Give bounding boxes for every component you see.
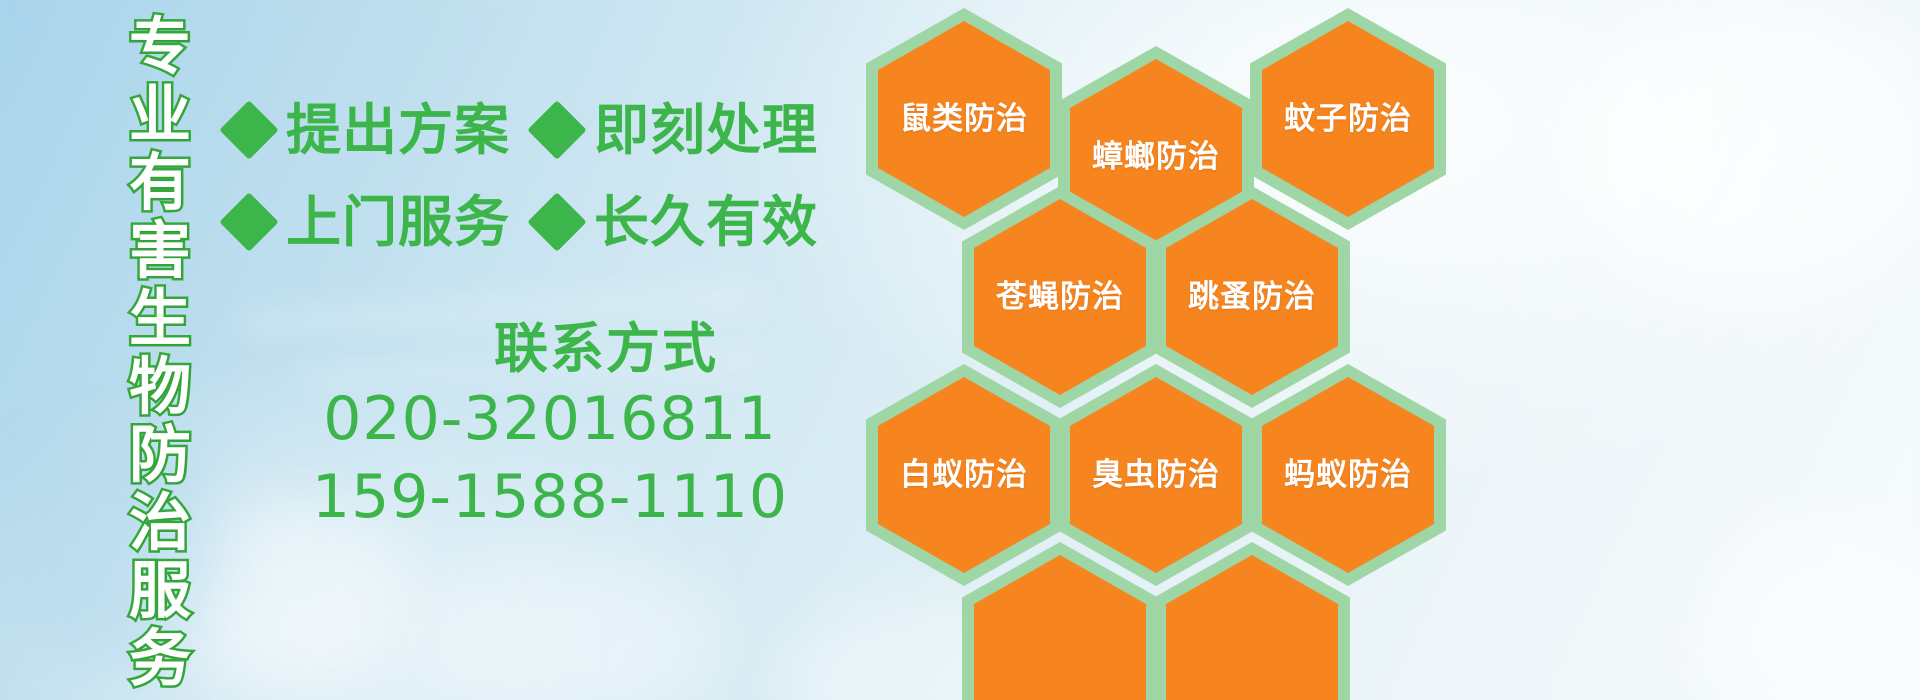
hex-inner: 臭虫防治 bbox=[1070, 377, 1242, 573]
service-hex-bedbug[interactable]: 臭虫防治 bbox=[1058, 364, 1254, 586]
service-label: 跳蚤防治 bbox=[1188, 280, 1316, 314]
feature-item: 即刻处理 bbox=[536, 100, 818, 160]
vertical-headline-char: 业 bbox=[129, 82, 191, 150]
contact-block: 联系方式 020-32016811 159-1588-1110 bbox=[300, 318, 800, 536]
diamond-icon bbox=[219, 100, 278, 159]
service-hex-termite[interactable]: 白蚁防治 bbox=[866, 364, 1062, 586]
background-blob bbox=[1700, 520, 1920, 700]
hex-inner: 跳蚤防治 bbox=[1166, 199, 1338, 395]
vertical-headline-char: 务 bbox=[129, 626, 191, 694]
feature-list: 提出方案 即刻处理 上门服务 长久有效 bbox=[228, 84, 868, 268]
hex-inner bbox=[974, 555, 1146, 700]
background-blob bbox=[1560, 0, 1920, 300]
vertical-headline-char: 害 bbox=[129, 218, 191, 286]
feature-label: 提出方案 bbox=[286, 100, 510, 160]
vertical-headline-char: 有 bbox=[129, 150, 191, 218]
diamond-icon bbox=[527, 100, 586, 159]
feature-item: 上门服务 bbox=[228, 192, 510, 252]
vertical-headline-char: 治 bbox=[129, 490, 191, 558]
diamond-icon bbox=[527, 192, 586, 251]
vertical-headline-char: 生 bbox=[129, 286, 191, 354]
hex-inner: 鼠类防治 bbox=[878, 21, 1050, 217]
feature-label: 上门服务 bbox=[286, 192, 510, 252]
service-label: 臭虫防治 bbox=[1092, 458, 1220, 492]
service-label: 蟑螂防治 bbox=[1092, 140, 1220, 174]
service-label: 鼠类防治 bbox=[900, 102, 1028, 136]
hex-inner: 白蚁防治 bbox=[878, 377, 1050, 573]
diamond-icon bbox=[219, 192, 278, 251]
hex-inner: 蚊子防治 bbox=[1262, 21, 1434, 217]
vertical-headline-char: 服 bbox=[129, 558, 191, 626]
contact-title: 联系方式 bbox=[412, 318, 800, 380]
hex-inner: 苍蝇防治 bbox=[974, 199, 1146, 395]
contact-phone-landline[interactable]: 020-32016811 bbox=[300, 380, 800, 458]
service-honeycomb: 鼠类防治 蟑螂防治 蚊子防治 苍蝇防治 跳蚤防治 白蚁防治 臭虫防治 蚂蚁防治 bbox=[858, 0, 1458, 700]
service-label: 苍蝇防治 bbox=[996, 280, 1124, 314]
vertical-headline-char: 专 bbox=[129, 14, 191, 82]
contact-phone-mobile[interactable]: 159-1588-1110 bbox=[300, 458, 800, 536]
feature-item: 提出方案 bbox=[228, 100, 510, 160]
service-label: 蚊子防治 bbox=[1284, 102, 1412, 136]
vertical-headline-char: 防 bbox=[129, 422, 191, 490]
feature-row: 上门服务 长久有效 bbox=[228, 176, 868, 268]
background-blob bbox=[420, 560, 720, 700]
hex-inner bbox=[1166, 555, 1338, 700]
feature-row: 提出方案 即刻处理 bbox=[228, 84, 868, 176]
service-label: 白蚁防治 bbox=[900, 458, 1028, 492]
service-label: 蚂蚁防治 bbox=[1284, 458, 1412, 492]
service-hex-ant[interactable]: 蚂蚁防治 bbox=[1250, 364, 1446, 586]
hex-inner: 蚂蚁防治 bbox=[1262, 377, 1434, 573]
service-hex-rodent[interactable]: 鼠类防治 bbox=[866, 8, 1062, 230]
service-hex-mosquito[interactable]: 蚊子防治 bbox=[1250, 8, 1446, 230]
feature-label: 长久有效 bbox=[594, 192, 818, 252]
vertical-headline-char: 物 bbox=[129, 354, 191, 422]
feature-item: 长久有效 bbox=[536, 192, 818, 252]
vertical-headline: 专 业 有 害 生 物 防 治 服 务 bbox=[112, 14, 208, 574]
feature-label: 即刻处理 bbox=[594, 100, 818, 160]
